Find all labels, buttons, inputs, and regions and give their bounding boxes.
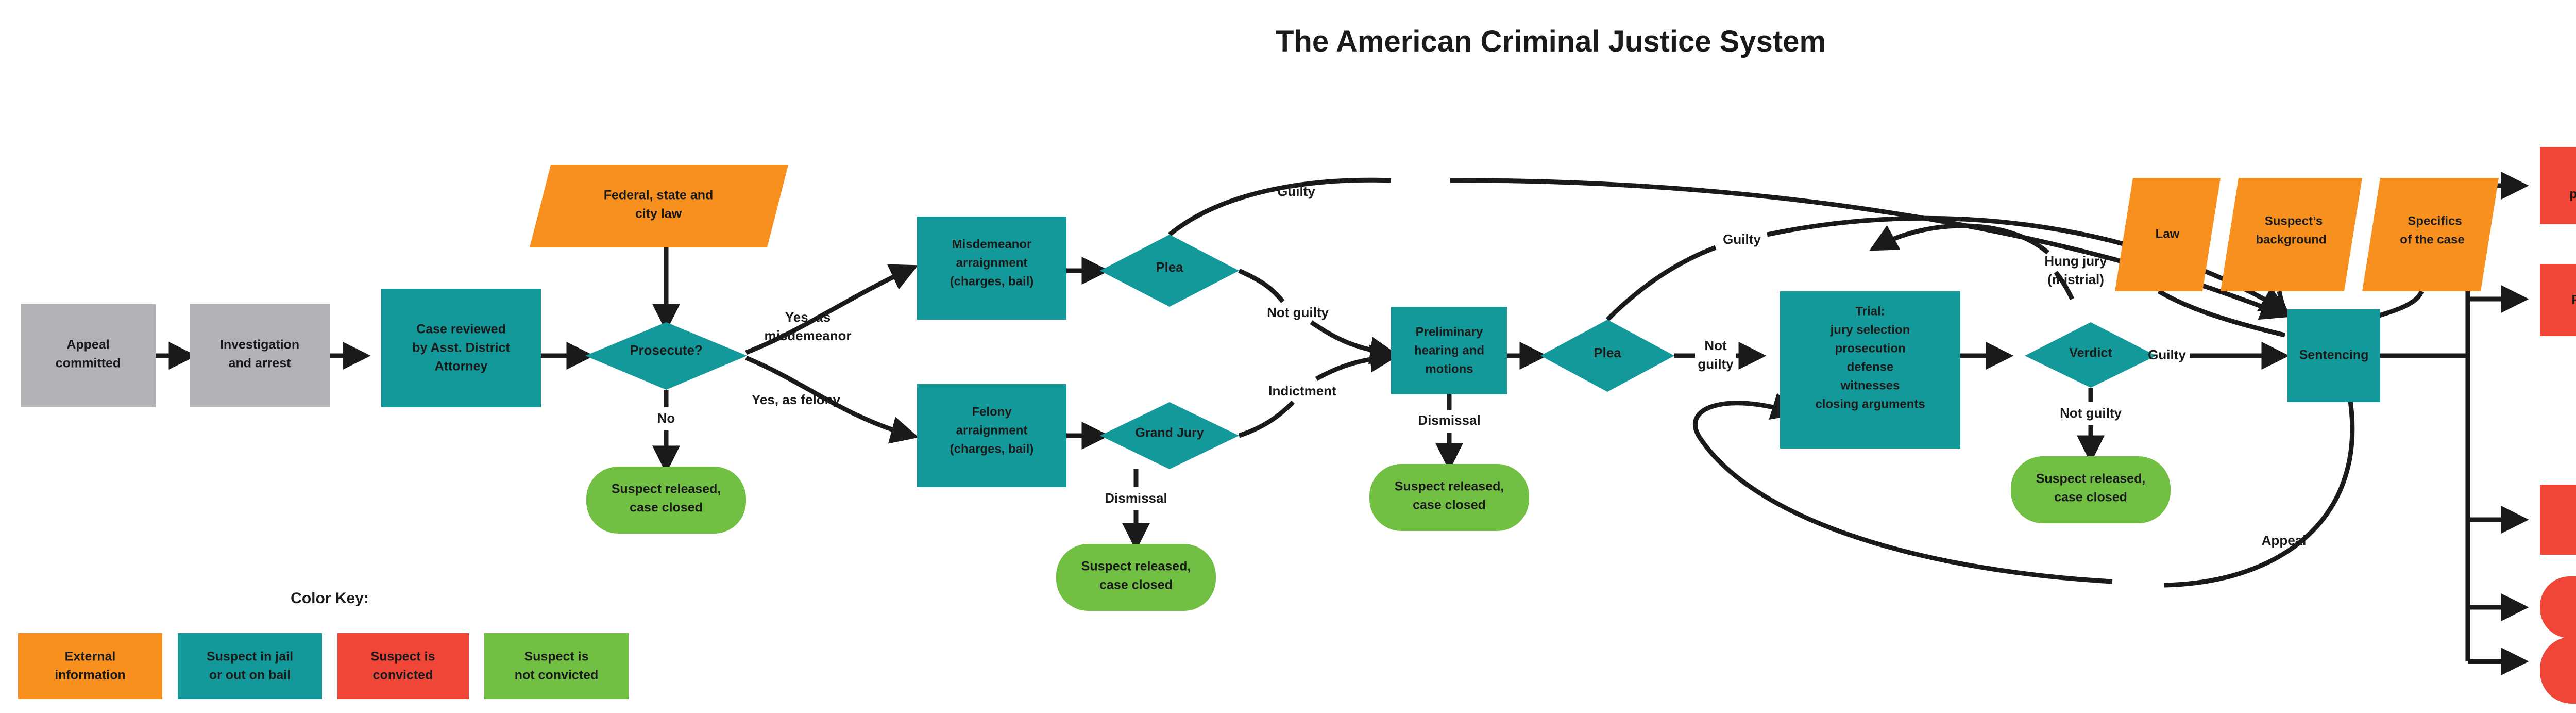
probation-box[interactable] xyxy=(2540,485,2576,555)
node-probation[interactable]: Probation xyxy=(2540,485,2576,555)
node-suspects-background[interactable]: Suspect’s background xyxy=(2221,178,2362,291)
node-capitol-punishment[interactable]: Capitol punishment xyxy=(2540,147,2576,224)
legend-swatch-suspect-in-jail[interactable] xyxy=(178,633,322,699)
node-plea-1[interactable]: Plea xyxy=(1100,235,1239,307)
label-indictment: Indictment xyxy=(1268,383,1336,399)
sentencing-label: Sentencing xyxy=(2299,348,2369,362)
case-reviewed-label-3: Attorney xyxy=(435,359,488,374)
node-suspect-released-3[interactable]: Suspect released, case closed xyxy=(1369,464,1529,531)
edge-plea1-notguilty-b xyxy=(1311,322,1391,354)
legend-label-jail-2: or out on bail xyxy=(209,668,291,683)
label-appeal: Appeal xyxy=(2262,533,2307,548)
trial-label-1: Trial: xyxy=(1855,304,1885,318)
label-guilty-verdict: Guilty xyxy=(2148,347,2186,362)
legend-label-external-1: External xyxy=(65,650,116,664)
label-not-guilty-trial-1: Not xyxy=(1704,338,1727,353)
prosecute-label: Prosecute? xyxy=(630,342,703,358)
release-direct-shape[interactable] xyxy=(2540,637,2576,704)
suspects-background-label-2: background xyxy=(2256,233,2326,246)
node-preliminary-hearing[interactable]: Preliminary hearing and motions xyxy=(1391,307,1507,394)
grand-jury-label: Grand Jury xyxy=(1135,426,1204,440)
node-case-reviewed[interactable]: Case reviewed by Asst. District Attorney xyxy=(381,289,541,407)
suspect-released-1-label-1: Suspect released, xyxy=(612,482,721,496)
suspect-released-1-label-2: case closed xyxy=(630,501,703,515)
suspect-released-3-label-2: case closed xyxy=(1413,498,1486,512)
node-prison-jail[interactable]: Prison / jail xyxy=(2540,264,2576,336)
node-sentencing[interactable]: Sentencing xyxy=(2287,309,2380,402)
label-yes-as-felony: Yes, as felony xyxy=(752,392,841,407)
legend-swatch-suspect-not-convicted[interactable] xyxy=(484,633,629,699)
prison-jail-box[interactable] xyxy=(2540,264,2576,336)
label-yes-as-misdemeanor-1: Yes, as xyxy=(785,309,831,325)
felony-label-3: (charges, bail) xyxy=(950,442,1034,456)
suspect-released-4-label-1: Suspect released, xyxy=(2036,472,2146,486)
node-trial[interactable]: Trial: jury selection prosecution defens… xyxy=(1780,291,1960,449)
legend-item-suspect-convicted[interactable]: Suspect is convicted xyxy=(337,633,469,699)
legend-label-external-2: information xyxy=(55,668,126,683)
label-guilty-plea1: Guilty xyxy=(1277,184,1315,199)
node-fine[interactable]: Fine xyxy=(2540,576,2576,638)
label-hung-jury-2: (mistrial) xyxy=(2047,272,2104,287)
legend-label-convicted-2: convicted xyxy=(373,668,433,683)
trial-label-4: defense xyxy=(1847,360,1894,374)
capitol-punishment-label-2: punishment xyxy=(2569,187,2576,202)
felony-label-2: arraignment xyxy=(956,423,1028,437)
capitol-punishment-box[interactable] xyxy=(2540,147,2576,224)
trial-label-5: witnesses xyxy=(1840,378,1900,392)
felony-label-1: Felony xyxy=(972,405,1012,419)
suspect-released-2-label-2: case closed xyxy=(1099,578,1173,592)
case-reviewed-label-2: by Asst. District xyxy=(412,341,510,355)
node-prosecute-decision[interactable]: Prosecute? xyxy=(585,322,747,390)
plea-1-label: Plea xyxy=(1156,259,1183,275)
label-hung-jury-1: Hung jury xyxy=(2044,253,2107,269)
investigation-label-1: Investigation xyxy=(220,338,299,352)
edge-plea2-guilty-a xyxy=(1607,247,1716,320)
diagram-canvas: The American Criminal Justice System xyxy=(0,0,2576,713)
legend-item-external-information[interactable]: External information xyxy=(18,633,162,699)
specifics-label-2: of the case xyxy=(2400,233,2464,246)
legend-swatch-external-information[interactable] xyxy=(18,633,162,699)
node-suspect-released-2[interactable]: Suspect released, case closed xyxy=(1056,544,1216,611)
edge-plea1-notguilty-a xyxy=(1239,271,1283,302)
misdemeanor-label-2: arraignment xyxy=(956,256,1028,270)
legend-item-suspect-not-convicted[interactable]: Suspect is not convicted xyxy=(484,633,629,699)
trial-label-6: closing arguments xyxy=(1815,397,1925,411)
suspects-background-label-1: Suspect’s xyxy=(2265,214,2323,228)
preliminary-hearing-label-3: motions xyxy=(1425,362,1473,376)
page-title: The American Criminal Justice System xyxy=(1276,25,1826,58)
node-investigation-and-arrest[interactable]: Investigation and arrest xyxy=(190,304,330,407)
appeal-committed-label-2: committed xyxy=(56,356,121,371)
preliminary-hearing-label-1: Preliminary xyxy=(1416,325,1483,339)
node-suspect-released-4[interactable]: Suspect released, case closed xyxy=(2011,456,2171,523)
node-felony-arraignment[interactable]: Felony arraignment (charges, bail) xyxy=(917,384,1066,487)
case-reviewed-label-1: Case reviewed xyxy=(416,322,506,337)
trial-label-3: prosecution xyxy=(1835,341,1905,355)
preliminary-hearing-label-2: hearing and xyxy=(1414,343,1484,357)
verdict-label: Verdict xyxy=(2069,346,2112,360)
node-plea-2[interactable]: Plea xyxy=(1540,320,1674,392)
specifics-label-1: Specifics xyxy=(2408,214,2462,228)
fine-shape[interactable] xyxy=(2540,576,2576,638)
legend-label-not-convicted-2: not convicted xyxy=(515,668,599,683)
label-not-guilty-trial-2: guilty xyxy=(1698,356,1734,372)
label-yes-as-misdemeanor-2: misdemeanor xyxy=(764,328,851,343)
edge-layer xyxy=(156,180,2576,661)
label-guilty-plea2: Guilty xyxy=(1723,231,1761,247)
legend-label-convicted-1: Suspect is xyxy=(370,650,435,664)
federal-law-label-1: Federal, state and xyxy=(604,188,714,203)
label-dismissal-prelim: Dismissal xyxy=(1418,412,1480,428)
suspect-released-2-label-1: Suspect released, xyxy=(1081,559,1191,574)
edge-grandjury-indictment-a xyxy=(1239,402,1293,436)
prison-jail-label: Prison / jail xyxy=(2571,293,2576,307)
legend-item-suspect-in-jail-or-bail[interactable]: Suspect in jail or out on bail xyxy=(178,633,322,699)
legend-label-jail-1: Suspect in jail xyxy=(207,650,293,664)
node-release-direct[interactable]: Release xyxy=(2540,637,2576,704)
plea-2-label: Plea xyxy=(1594,345,1621,360)
label-dismissal-grand-jury: Dismissal xyxy=(1105,490,1167,506)
color-key-legend: Color Key: External information Suspect … xyxy=(18,590,629,699)
color-key-heading: Color Key: xyxy=(291,590,369,607)
law-label: Law xyxy=(2156,227,2180,241)
node-law[interactable]: Law xyxy=(2115,178,2221,291)
node-verdict[interactable]: Verdict xyxy=(2025,322,2156,388)
node-specifics-of-the-case[interactable]: Specifics of the case xyxy=(2362,178,2499,291)
label-no: No xyxy=(657,410,675,426)
federal-law-label-2: city law xyxy=(635,207,682,221)
misdemeanor-label-1: Misdemeanor xyxy=(952,237,1032,251)
edge-appeal-a xyxy=(2164,371,2352,585)
edge-grandjury-indictment-b xyxy=(1316,357,1391,379)
edge-appeal-c xyxy=(1695,403,1793,438)
edge-hungjury-b xyxy=(1875,226,2048,253)
label-not-guilty-verdict: Not guilty xyxy=(2060,405,2122,421)
appeal-committed-label-1: Appeal xyxy=(66,338,109,352)
trial-label-2: jury selection xyxy=(1830,323,1910,337)
node-federal-state-city-law[interactable]: Federal, state and city law xyxy=(530,165,788,247)
node-appeal-committed[interactable]: Appeal committed xyxy=(21,304,156,407)
node-suspect-released-1[interactable]: Suspect released, case closed xyxy=(586,467,746,534)
investigation-label-2: and arrest xyxy=(229,356,292,371)
node-misdemeanor-arraignment[interactable]: Misdemeanor arraignment (charges, bail) xyxy=(917,217,1066,320)
misdemeanor-label-3: (charges, bail) xyxy=(950,274,1034,288)
node-grand-jury[interactable]: Grand Jury xyxy=(1100,402,1239,469)
label-not-guilty-plea1: Not guilty xyxy=(1267,305,1329,320)
legend-swatch-suspect-convicted[interactable] xyxy=(337,633,469,699)
suspect-released-4-label-2: case closed xyxy=(2054,490,2127,505)
suspect-released-3-label-1: Suspect released, xyxy=(1395,479,1504,494)
criminal-justice-flowchart: The American Criminal Justice System xyxy=(0,0,2576,713)
legend-label-not-convicted-1: Suspect is xyxy=(524,650,588,664)
